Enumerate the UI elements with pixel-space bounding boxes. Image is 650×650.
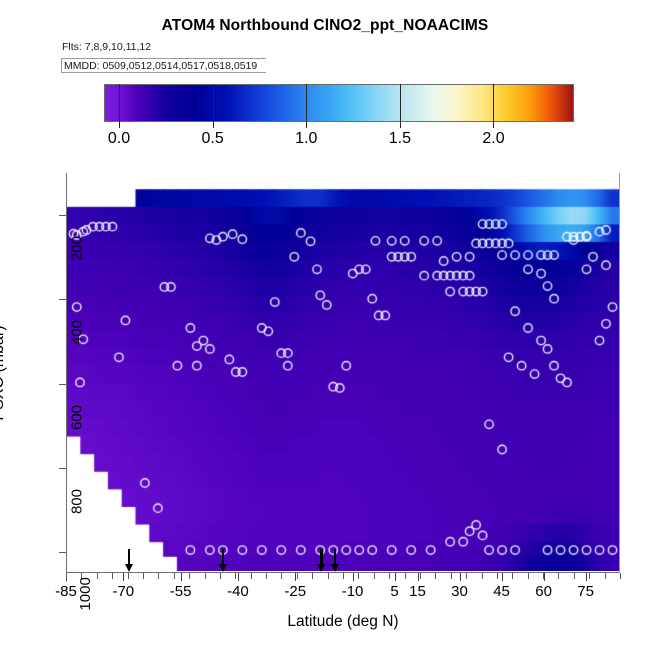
y-axis-tick (59, 468, 66, 469)
x-axis-minor-tick (605, 573, 606, 579)
x-axis-tick (502, 573, 503, 581)
x-axis-minor-tick (220, 573, 221, 579)
x-axis-tick (460, 573, 461, 581)
x-axis-minor-tick (405, 573, 406, 579)
y-axis-tick-label: 1000 (77, 577, 94, 610)
y-axis-tick (59, 552, 66, 553)
x-axis-tick (353, 573, 354, 581)
x-axis-minor-tick (158, 573, 159, 579)
x-axis-minor-tick (251, 573, 252, 579)
colorbar-tick-line (306, 84, 307, 122)
x-axis-tick-label: -25 (284, 583, 306, 600)
page-title: ATOM4 Northbound ClNO2_ppt_NOAACIMS (0, 17, 650, 35)
y-axis-tick (59, 299, 66, 300)
x-axis-minor-tick (389, 573, 390, 579)
x-axis-minor-tick (451, 573, 452, 579)
x-axis-minor-tick (66, 573, 67, 579)
x-axis-tick (238, 573, 239, 581)
colorbar-tick-line (493, 84, 494, 122)
x-axis-minor-tick (620, 573, 621, 579)
y-axis-title: PSXC (mbar) (0, 325, 8, 420)
y-axis-tick-label: 200 (69, 236, 86, 261)
x-axis-tick-label: 75 (577, 583, 594, 600)
colorbar-tick (306, 122, 307, 128)
x-axis-title: Latitude (deg N) (66, 613, 620, 631)
x-axis-minor-tick (328, 573, 329, 579)
colorbar[interactable]: 0.00.51.01.52.0 (104, 84, 574, 122)
y-axis-tick (59, 384, 66, 385)
colorbar-tick (493, 122, 494, 128)
x-axis-tick (395, 573, 396, 581)
plot-window: ATOM4 Northbound ClNO2_ppt_NOAACIMS Flts… (0, 0, 650, 650)
y-axis-tick-label: 400 (69, 320, 86, 345)
x-axis-tick (586, 573, 587, 581)
x-axis-tick-label: -55 (170, 583, 192, 600)
colorbar-tick-label: 1.0 (295, 130, 317, 148)
colorbar-tick-line (119, 84, 120, 122)
colorbar-tick-label: 0.0 (108, 130, 130, 148)
colorbar-tick-label: 1.5 (389, 130, 411, 148)
x-axis-minor-tick (281, 573, 282, 579)
x-axis-minor-tick (543, 573, 544, 579)
flights-label: Flts: 7,8,9,10,11,12 (62, 41, 151, 53)
x-axis-minor-tick (574, 573, 575, 579)
x-axis-minor-tick (112, 573, 113, 579)
x-axis-minor-tick (528, 573, 529, 579)
x-axis-minor-tick (266, 573, 267, 579)
colorbar-tick-label: 0.5 (201, 130, 223, 148)
x-axis-minor-tick (435, 573, 436, 579)
x-axis-minor-tick (297, 573, 298, 579)
x-axis-tick-label: -70 (112, 583, 134, 600)
x-axis-tick-label: 30 (451, 583, 468, 600)
x-axis-tick-label: -40 (227, 583, 249, 600)
x-axis-minor-tick (189, 573, 190, 579)
x-axis-minor-tick (482, 573, 483, 579)
x-axis-tick-label: 60 (535, 583, 552, 600)
colorbar-tick (400, 122, 401, 128)
x-axis-minor-tick (589, 573, 590, 579)
colorbar-tick (119, 122, 120, 128)
x-axis-tick-label: 15 (409, 583, 426, 600)
x-axis-minor-tick (343, 573, 344, 579)
x-axis-minor-tick (497, 573, 498, 579)
colorbar-tick-line (400, 84, 401, 122)
x-axis-minor-tick (128, 573, 129, 579)
plot-frame (66, 173, 620, 573)
x-axis-minor-tick (205, 573, 206, 579)
x-axis-tick (418, 573, 419, 581)
y-axis-tick-label: 800 (69, 489, 86, 514)
x-axis-tick-label: -10 (342, 583, 364, 600)
x-axis-minor-tick (558, 573, 559, 579)
x-axis-minor-tick (143, 573, 144, 579)
x-axis-tick-label: 5 (390, 583, 398, 600)
y-axis-tick (59, 215, 66, 216)
x-axis-minor-tick (358, 573, 359, 579)
x-axis-minor-tick (420, 573, 421, 579)
x-axis-minor-tick (235, 573, 236, 579)
colorbar-gradient (104, 84, 574, 122)
plot-area[interactable]: Latitude (deg N) PSXC (mbar) -85-70-55-4… (66, 173, 620, 573)
x-axis-minor-tick (174, 573, 175, 579)
x-axis-minor-tick (466, 573, 467, 579)
colorbar-tick (213, 122, 214, 128)
x-axis-tick (181, 573, 182, 581)
x-axis-tick (123, 573, 124, 581)
x-axis-minor-tick (97, 573, 98, 579)
mmdd-label: MMDD: 0509,0512,0514,0517,0518,0519 (64, 60, 257, 72)
colorbar-tick-label: 2.0 (482, 130, 504, 148)
y-axis-tick-label: 600 (69, 405, 86, 430)
x-axis-minor-tick (312, 573, 313, 579)
x-axis-minor-tick (374, 573, 375, 579)
x-axis-tick-label: -85 (55, 583, 77, 600)
colorbar-tick-line (213, 84, 214, 122)
x-axis-tick-label: 45 (493, 583, 510, 600)
x-axis-minor-tick (512, 573, 513, 579)
